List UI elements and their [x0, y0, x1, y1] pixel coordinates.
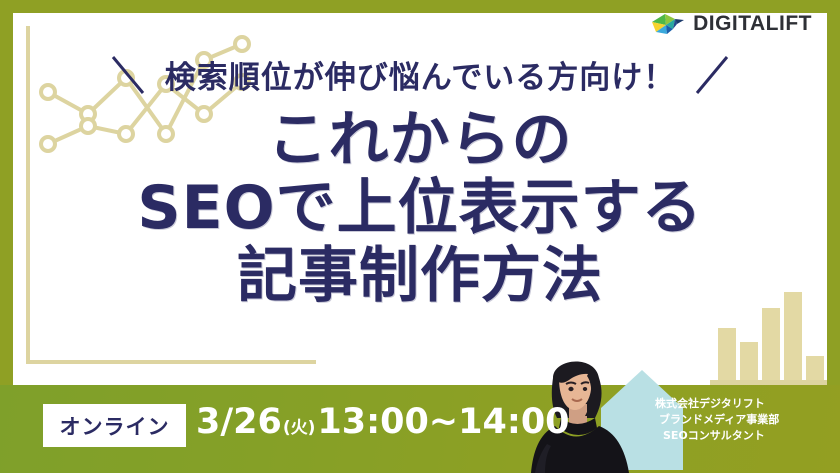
format-badge-label: オンライン	[60, 411, 170, 441]
title-line-2: SEOで上位表示する	[0, 174, 840, 242]
headline-row: 検索順位が伸び悩んでいる方向け！	[0, 52, 840, 97]
bar-2	[740, 342, 758, 380]
speaker-role: SEOコンサルタント	[655, 428, 835, 444]
speaker-credentials: 株式会社デジタリフト ブランドメディア事業部 SEOコンサルタント	[655, 396, 835, 444]
webinar-banner: DIGITALIFT 検索順位が伸び悩んでいる方向け！ これからの SEOで上位…	[0, 0, 840, 473]
main-title: これからの SEOで上位表示する 記事制作方法	[0, 106, 840, 310]
title-line-3: 記事制作方法	[0, 242, 840, 310]
slash-right-icon	[691, 53, 731, 97]
title-line-1: これからの	[0, 106, 840, 174]
origami-bird-icon	[651, 11, 685, 37]
decorative-frame-horizontal	[26, 360, 316, 364]
logo-wordmark: DIGITALIFT	[693, 12, 812, 36]
event-time: 13:00~14:00	[317, 402, 569, 442]
speaker-company: 株式会社デジタリフト	[655, 396, 835, 412]
slash-left-icon	[109, 53, 149, 97]
brand-logo[interactable]: DIGITALIFT	[651, 11, 812, 37]
event-date: 3/26	[196, 402, 282, 442]
speaker-department: ブランドメディア事業部	[655, 412, 835, 428]
headline-text: 検索順位が伸び悩んでいる方向け！	[165, 52, 675, 97]
bar-3	[762, 308, 780, 380]
format-badge: オンライン	[43, 404, 186, 447]
bar-5	[806, 356, 824, 380]
event-weekday: (火)	[282, 413, 318, 438]
event-datetime: 3/26 (火) 13:00~14:00	[196, 402, 570, 448]
bar-1	[718, 328, 736, 380]
